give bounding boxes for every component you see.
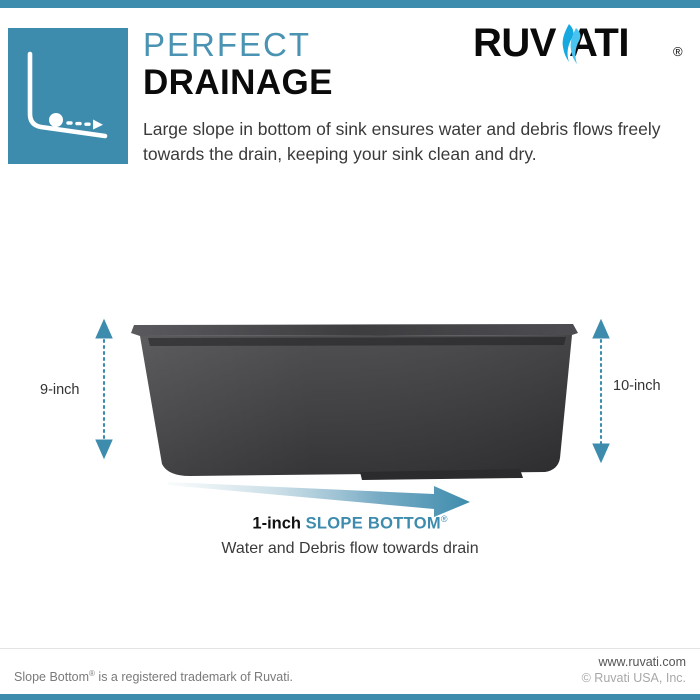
slope-subtext: Water and Debris flow towards drain <box>0 537 700 561</box>
footer-trademark-post: is a registered trademark of Ruvati. <box>95 670 293 684</box>
footer-website[interactable]: www.ruvati.com <box>582 654 686 670</box>
slope-value: 1-inch <box>252 515 301 533</box>
title-line-drainage: DRAINAGE <box>143 63 563 102</box>
slope-caption: 1-inch SLOPE BOTTOM® Water and Debris fl… <box>0 508 700 561</box>
header-body-text: Large slope in bottom of sink ensures wa… <box>143 117 695 166</box>
bottom-brand-bar <box>0 694 700 700</box>
slope-bottom-label: SLOPE BOTTOM <box>306 515 441 533</box>
sink-slope-profile-icon <box>8 28 128 164</box>
footer-copyright: © Ruvati USA, Inc. <box>582 670 686 686</box>
right-dimension-arrow <box>593 320 609 462</box>
logo-registered-mark: ® <box>673 44 683 59</box>
top-brand-bar <box>0 0 700 8</box>
sink-rim <box>131 324 578 336</box>
footer-divider <box>0 648 700 649</box>
right-dimension-label: 10-inch <box>613 378 661 394</box>
footer-brand-info: www.ruvati.com © Ruvati USA, Inc. <box>582 654 686 686</box>
ruvati-logo: RUV ATI ® <box>473 20 691 68</box>
left-dimension-label: 9-inch <box>40 382 80 398</box>
left-dimension-arrow <box>96 320 112 458</box>
perfect-drainage-infographic: { "brand": { "accent_blue": "#3d8cad", "… <box>0 0 700 700</box>
footer-trademark-pre: Slope Bottom <box>14 670 89 684</box>
footer-trademark-note: Slope Bottom® is a registered trademark … <box>14 669 293 684</box>
slope-registered-mark: ® <box>441 514 448 524</box>
svg-text:RUV: RUV <box>473 21 557 65</box>
